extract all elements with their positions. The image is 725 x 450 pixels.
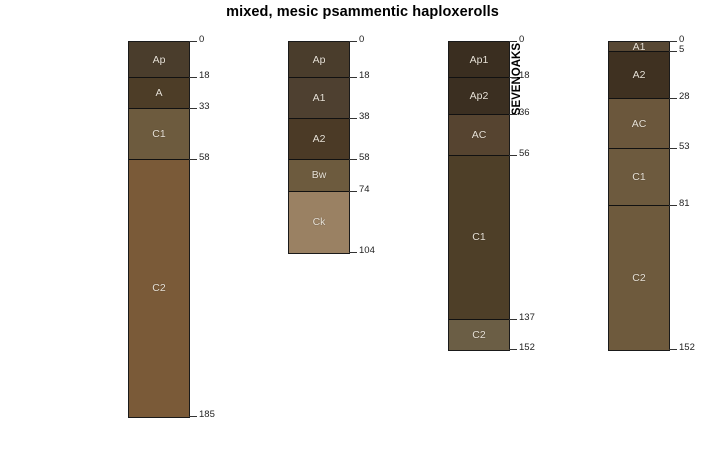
chart-title: mixed, mesic psammentic haploxerolls [0, 4, 725, 20]
horizon-c1[interactable]: C1 [129, 109, 189, 160]
tick-line [189, 77, 197, 78]
depth-value: 185 [199, 409, 215, 420]
horizon-label: A2 [633, 69, 646, 81]
depth-value: 56 [519, 148, 530, 159]
tick-line [189, 159, 197, 160]
tick-line [669, 349, 677, 350]
horizon-label: Ck [313, 216, 326, 228]
horizon-label: Ap1 [470, 54, 489, 66]
horizon-label: AC [472, 129, 487, 141]
tick-line [189, 416, 197, 417]
horizon-ck[interactable]: Ck [289, 192, 349, 253]
horizon-c1[interactable]: C1 [609, 149, 669, 206]
horizon-ap2[interactable]: Ap2 [449, 78, 509, 114]
horizon-ap1[interactable]: Ap1 [449, 42, 509, 78]
depth-value: 53 [679, 141, 690, 152]
horizon-label: Ap2 [470, 90, 489, 102]
horizon-a2[interactable]: A2 [289, 119, 349, 160]
depth-value: 5 [679, 44, 684, 55]
horizon-c2[interactable]: C2 [129, 160, 189, 417]
horizon-label: A2 [313, 133, 326, 145]
horizon-label: C2 [632, 272, 645, 284]
horizon-label: AC [632, 118, 647, 130]
depth-value: 137 [519, 312, 535, 323]
depth-value: 0 [359, 34, 364, 45]
profile-column-francis: ApAC1C2 [128, 41, 190, 418]
horizon-label: A1 [313, 92, 326, 104]
profile-column-wasatch: A1A2ACC1C2 [608, 41, 670, 351]
tick-line [349, 118, 357, 119]
tick-line [349, 77, 357, 78]
horizon-label: Ap [153, 54, 166, 66]
depth-value: 28 [679, 91, 690, 102]
tick-line [509, 77, 517, 78]
horizon-a1[interactable]: A1 [289, 78, 349, 119]
horizon-label: C1 [472, 231, 485, 243]
horizon-label: Ap [313, 54, 326, 66]
depth-value: 74 [359, 184, 370, 195]
depth-value: 58 [199, 152, 210, 163]
horizon-ac[interactable]: AC [449, 115, 509, 156]
depth-value: 38 [359, 111, 370, 122]
horizon-c2[interactable]: C2 [449, 320, 509, 350]
horizon-ap[interactable]: Ap [289, 42, 349, 78]
horizon-label: C1 [152, 128, 165, 140]
horizon-c2[interactable]: C2 [609, 206, 669, 350]
tick-line [349, 252, 357, 253]
depth-value: 33 [199, 101, 210, 112]
depth-value: 104 [359, 245, 375, 256]
depth-value: 81 [679, 198, 690, 209]
tick-line [669, 98, 677, 99]
profile-column-layton: ApA1A2BwCk [288, 41, 350, 254]
tick-line [669, 205, 677, 206]
horizon-ap[interactable]: Ap [129, 42, 189, 78]
horizon-a[interactable]: A [129, 78, 189, 108]
horizon-bw[interactable]: Bw [289, 160, 349, 192]
soil-profile-chart: mixed, mesic psammentic haploxerolls FRA… [0, 0, 725, 450]
horizon-label: C2 [472, 329, 485, 341]
tick-line [349, 191, 357, 192]
depth-value: 0 [519, 34, 524, 45]
horizon-label: A [155, 87, 162, 99]
tick-line [509, 349, 517, 350]
depth-value: 18 [519, 70, 530, 81]
tick-line [509, 41, 517, 42]
horizon-a2[interactable]: A2 [609, 52, 669, 99]
profile-column-sevenoaks: Ap1Ap2ACC1C2 [448, 41, 510, 351]
depth-value: 0 [199, 34, 204, 45]
tick-line [509, 155, 517, 156]
horizon-label: C2 [152, 282, 165, 294]
tick-line [349, 159, 357, 160]
horizon-label: A1 [633, 42, 646, 52]
horizon-c1[interactable]: C1 [449, 156, 509, 320]
depth-value: 18 [359, 70, 370, 81]
horizon-label: C1 [632, 171, 645, 183]
tick-line [669, 148, 677, 149]
tick-line [669, 41, 677, 42]
horizon-ac[interactable]: AC [609, 99, 669, 150]
depth-value: 36 [519, 107, 530, 118]
tick-line [669, 51, 677, 52]
tick-line [509, 114, 517, 115]
tick-line [189, 41, 197, 42]
tick-line [509, 319, 517, 320]
depth-value: 152 [679, 342, 695, 353]
tick-line [189, 108, 197, 109]
tick-line [349, 41, 357, 42]
horizon-label: Bw [312, 169, 327, 181]
depth-value: 18 [199, 70, 210, 81]
horizon-a1[interactable]: A1 [609, 42, 669, 52]
depth-value: 58 [359, 152, 370, 163]
depth-value: 152 [519, 342, 535, 353]
